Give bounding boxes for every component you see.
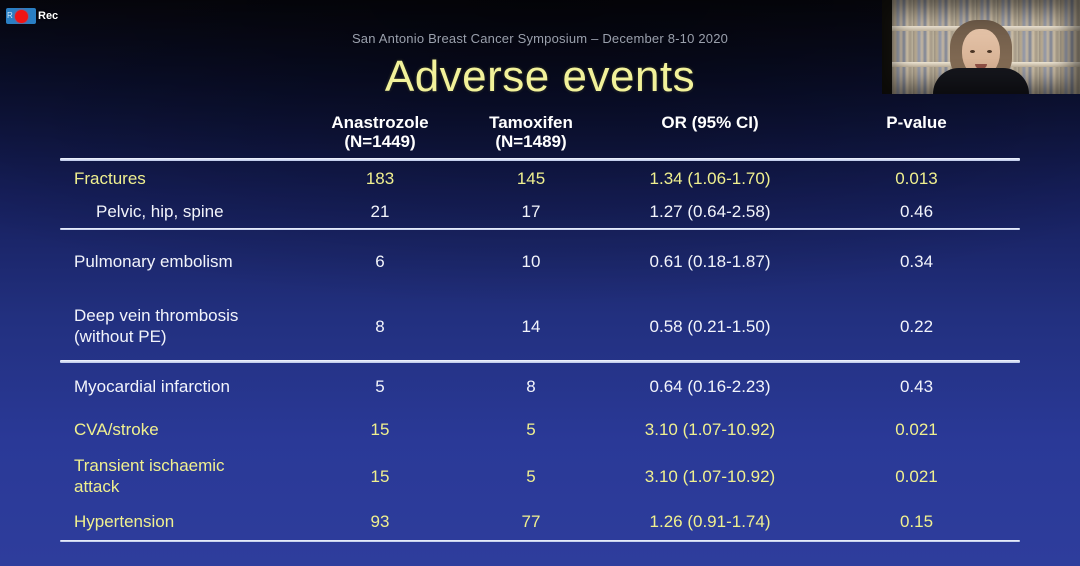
row-cell-p-value: 0.34 xyxy=(813,251,1020,272)
table-row: Transient ischaemicattack1553.10 (1.07-1… xyxy=(60,450,1020,502)
row-cell-p-value: 0.013 xyxy=(813,168,1020,189)
row-cell-anastrozole: 6 xyxy=(305,251,455,272)
row-cell-tamoxifen: 14 xyxy=(455,316,607,337)
row-label: Myocardial infarction xyxy=(60,376,305,397)
table-header-cell-2: Tamoxifen(N=1489) xyxy=(455,113,607,151)
webcam-vignette xyxy=(882,0,1080,94)
row-label: Hypertension xyxy=(60,511,305,532)
row-cell-p-value: 0.021 xyxy=(813,466,1020,487)
header-line-1: Anastrozole xyxy=(305,113,455,132)
row-cell-p-value: 0.15 xyxy=(813,511,1020,532)
row-cell-anastrozole: 183 xyxy=(305,168,455,189)
row-label-line: (without PE) xyxy=(74,326,305,347)
row-label-line: Fractures xyxy=(74,168,305,189)
table-body: Fractures1831451.34 (1.06-1.70)0.013Pelv… xyxy=(60,161,1020,542)
row-cell-or-ci: 1.34 (1.06-1.70) xyxy=(607,168,813,189)
screen-capture: San Antonio Breast Cancer Symposium – De… xyxy=(0,0,1080,566)
recording-chip-text: R xyxy=(7,8,13,24)
table-row: Deep vein thrombosis(without PE)8140.58 … xyxy=(60,292,1020,360)
table-rule-bottom xyxy=(60,540,1020,542)
header-line-1: Tamoxifen xyxy=(455,113,607,132)
recording-chip: R xyxy=(6,8,36,24)
row-label-line: Transient ischaemic xyxy=(74,455,305,476)
row-cell-anastrozole: 21 xyxy=(305,201,455,222)
row-cell-or-ci: 1.27 (0.64-2.58) xyxy=(607,201,813,222)
header-line-2: (N=1489) xyxy=(455,132,607,151)
header-line-2: (N=1449) xyxy=(305,132,455,151)
row-label: Deep vein thrombosis(without PE) xyxy=(60,305,305,347)
row-label-line: CVA/stroke xyxy=(74,419,305,440)
row-cell-anastrozole: 8 xyxy=(305,316,455,337)
table-row: Pelvic, hip, spine21171.27 (0.64-2.58)0.… xyxy=(60,195,1020,228)
table-row: Fractures1831451.34 (1.06-1.70)0.013 xyxy=(60,161,1020,195)
row-cell-anastrozole: 15 xyxy=(305,419,455,440)
row-cell-tamoxifen: 10 xyxy=(455,251,607,272)
recording-indicator[interactable]: R Rec xyxy=(6,8,58,24)
row-cell-or-ci: 0.61 (0.18-1.87) xyxy=(607,251,813,272)
row-cell-p-value: 0.021 xyxy=(813,419,1020,440)
table-row: CVA/stroke1553.10 (1.07-10.92)0.021 xyxy=(60,409,1020,450)
row-label-line: Deep vein thrombosis xyxy=(74,305,305,326)
row-cell-tamoxifen: 17 xyxy=(455,201,607,222)
row-label-line: Pelvic, hip, spine xyxy=(96,201,305,222)
row-cell-or-ci: 0.64 (0.16-2.23) xyxy=(607,376,813,397)
row-label-line: Pulmonary embolism xyxy=(74,251,305,272)
row-label-line: attack xyxy=(74,476,305,497)
presenter-webcam-video[interactable] xyxy=(882,0,1080,94)
table-row: Hypertension93771.26 (0.91-1.74)0.15 xyxy=(60,502,1020,540)
row-label-line: Hypertension xyxy=(74,511,305,532)
row-label: Transient ischaemicattack xyxy=(60,455,305,497)
table-header-cell-1: Anastrozole(N=1449) xyxy=(305,113,455,151)
row-cell-tamoxifen: 145 xyxy=(455,168,607,189)
record-dot-icon xyxy=(15,10,28,23)
row-cell-or-ci: 1.26 (0.91-1.74) xyxy=(607,511,813,532)
adverse-events-table: Anastrozole(N=1449)Tamoxifen(N=1489)OR (… xyxy=(60,110,1020,542)
row-label: Fractures xyxy=(60,168,305,189)
row-cell-tamoxifen: 5 xyxy=(455,419,607,440)
row-cell-anastrozole: 93 xyxy=(305,511,455,532)
header-line-1: OR (95% CI) xyxy=(607,113,813,132)
row-cell-p-value: 0.22 xyxy=(813,316,1020,337)
row-cell-or-ci: 0.58 (0.21-1.50) xyxy=(607,316,813,337)
row-cell-p-value: 0.46 xyxy=(813,201,1020,222)
recording-label: Rec xyxy=(38,10,58,22)
row-cell-tamoxifen: 8 xyxy=(455,376,607,397)
row-label-line: Myocardial infarction xyxy=(74,376,305,397)
row-label: Pelvic, hip, spine xyxy=(60,201,305,222)
table-row: Myocardial infarction580.64 (0.16-2.23)0… xyxy=(60,363,1020,409)
row-cell-p-value: 0.43 xyxy=(813,376,1020,397)
row-cell-or-ci: 3.10 (1.07-10.92) xyxy=(607,419,813,440)
row-cell-anastrozole: 15 xyxy=(305,466,455,487)
row-cell-tamoxifen: 5 xyxy=(455,466,607,487)
header-line-1: P-value xyxy=(813,113,1020,132)
table-header-row: Anastrozole(N=1449)Tamoxifen(N=1489)OR (… xyxy=(60,110,1020,158)
table-header-cell-3: OR (95% CI) xyxy=(607,113,813,132)
row-cell-or-ci: 3.10 (1.07-10.92) xyxy=(607,466,813,487)
row-label: Pulmonary embolism xyxy=(60,251,305,272)
table-header-cell-4: P-value xyxy=(813,113,1020,132)
table-row: Pulmonary embolism6100.61 (0.18-1.87)0.3… xyxy=(60,230,1020,292)
row-label: CVA/stroke xyxy=(60,419,305,440)
row-cell-tamoxifen: 77 xyxy=(455,511,607,532)
row-cell-anastrozole: 5 xyxy=(305,376,455,397)
